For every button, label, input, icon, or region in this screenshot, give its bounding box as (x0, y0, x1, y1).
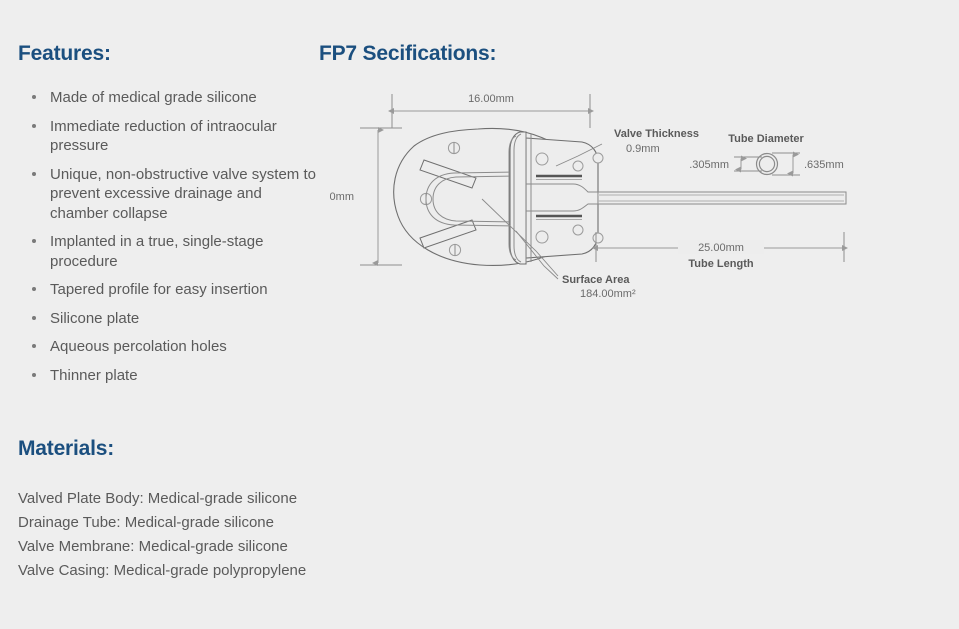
list-item-label: Aqueous percolation holes (50, 338, 227, 355)
list-item-label: Made of medical grade silicone (50, 89, 257, 106)
valve-casing (509, 132, 603, 264)
list-item-label: Immediate reduction of intraocular press… (50, 118, 277, 155)
plate-width-label: 16.00mm (468, 93, 514, 105)
list-item: Thinner plate (18, 366, 318, 386)
list-item: Implanted in a true, single-stage proced… (18, 232, 318, 271)
tube-inner-diameter-value: .305mm (689, 159, 729, 171)
list-item-label: Silicone plate (50, 310, 139, 327)
bullet-icon (32, 287, 36, 291)
material-line: Valve Membrane: Medical-grade silicone (18, 535, 338, 559)
bullet-icon (32, 344, 36, 348)
list-item-label: Unique, non-obstructive valve system to … (50, 166, 316, 222)
page-root: Features: Made of medical grade silicone… (0, 0, 959, 629)
tube-length-value: 25.00mm (698, 242, 744, 254)
bullet-icon (32, 373, 36, 377)
fp7-specification-diagram: 16.00mm 13.00mm (330, 80, 959, 320)
tube-diameter-callout: Tube Diameter .305mm .635mm (689, 133, 844, 175)
list-item: Unique, non-obstructive valve system to … (18, 165, 318, 224)
specifications-heading: FP7 Secifications: (319, 42, 496, 66)
list-item: Made of medical grade silicone (18, 88, 318, 108)
valve-thickness-value: 0.9mm (626, 143, 660, 155)
tube-diameter-label: Tube Diameter (728, 133, 804, 145)
bullet-icon (32, 124, 36, 128)
bullet-icon (32, 239, 36, 243)
list-item: Tapered profile for easy insertion (18, 280, 318, 300)
material-line: Drainage Tube: Medical-grade silicone (18, 511, 338, 535)
valve-thickness-label: Valve Thickness (614, 128, 699, 140)
list-item-label: Tapered profile for easy insertion (50, 281, 268, 298)
drainage-tube (598, 192, 846, 204)
tube-outer-diameter-value: .635mm (804, 159, 844, 171)
list-item: Silicone plate (18, 309, 318, 329)
plate-width-dimension: 16.00mm (392, 93, 590, 128)
plate-height-label: 13.00mm (330, 191, 354, 203)
left-content-column: Features: Made of medical grade silicone… (0, 0, 330, 629)
surface-area-label: Surface Area (562, 274, 630, 286)
bullet-icon (32, 316, 36, 320)
tube-length-label: Tube Length (688, 258, 753, 270)
tube-length-dimension: 25.00mm Tube Length (596, 232, 844, 270)
material-line: Valve Casing: Medical-grade polypropylen… (18, 559, 338, 583)
list-item-label: Implanted in a true, single-stage proced… (50, 233, 263, 270)
features-list: Made of medical grade silicone Immediate… (18, 88, 318, 394)
surface-area-value: 184.00mm² (580, 288, 636, 300)
features-heading: Features: (18, 42, 111, 66)
material-line: Valved Plate Body: Medical-grade silicon… (18, 487, 338, 511)
list-item-label: Thinner plate (50, 367, 138, 384)
list-item: Immediate reduction of intraocular press… (18, 117, 318, 156)
materials-heading: Materials: (18, 437, 114, 461)
bullet-icon (32, 95, 36, 99)
bullet-icon (32, 172, 36, 176)
plate-height-dimension: 13.00mm (330, 128, 402, 265)
list-item: Aqueous percolation holes (18, 337, 318, 357)
materials-list: Valved Plate Body: Medical-grade silicon… (18, 487, 338, 583)
